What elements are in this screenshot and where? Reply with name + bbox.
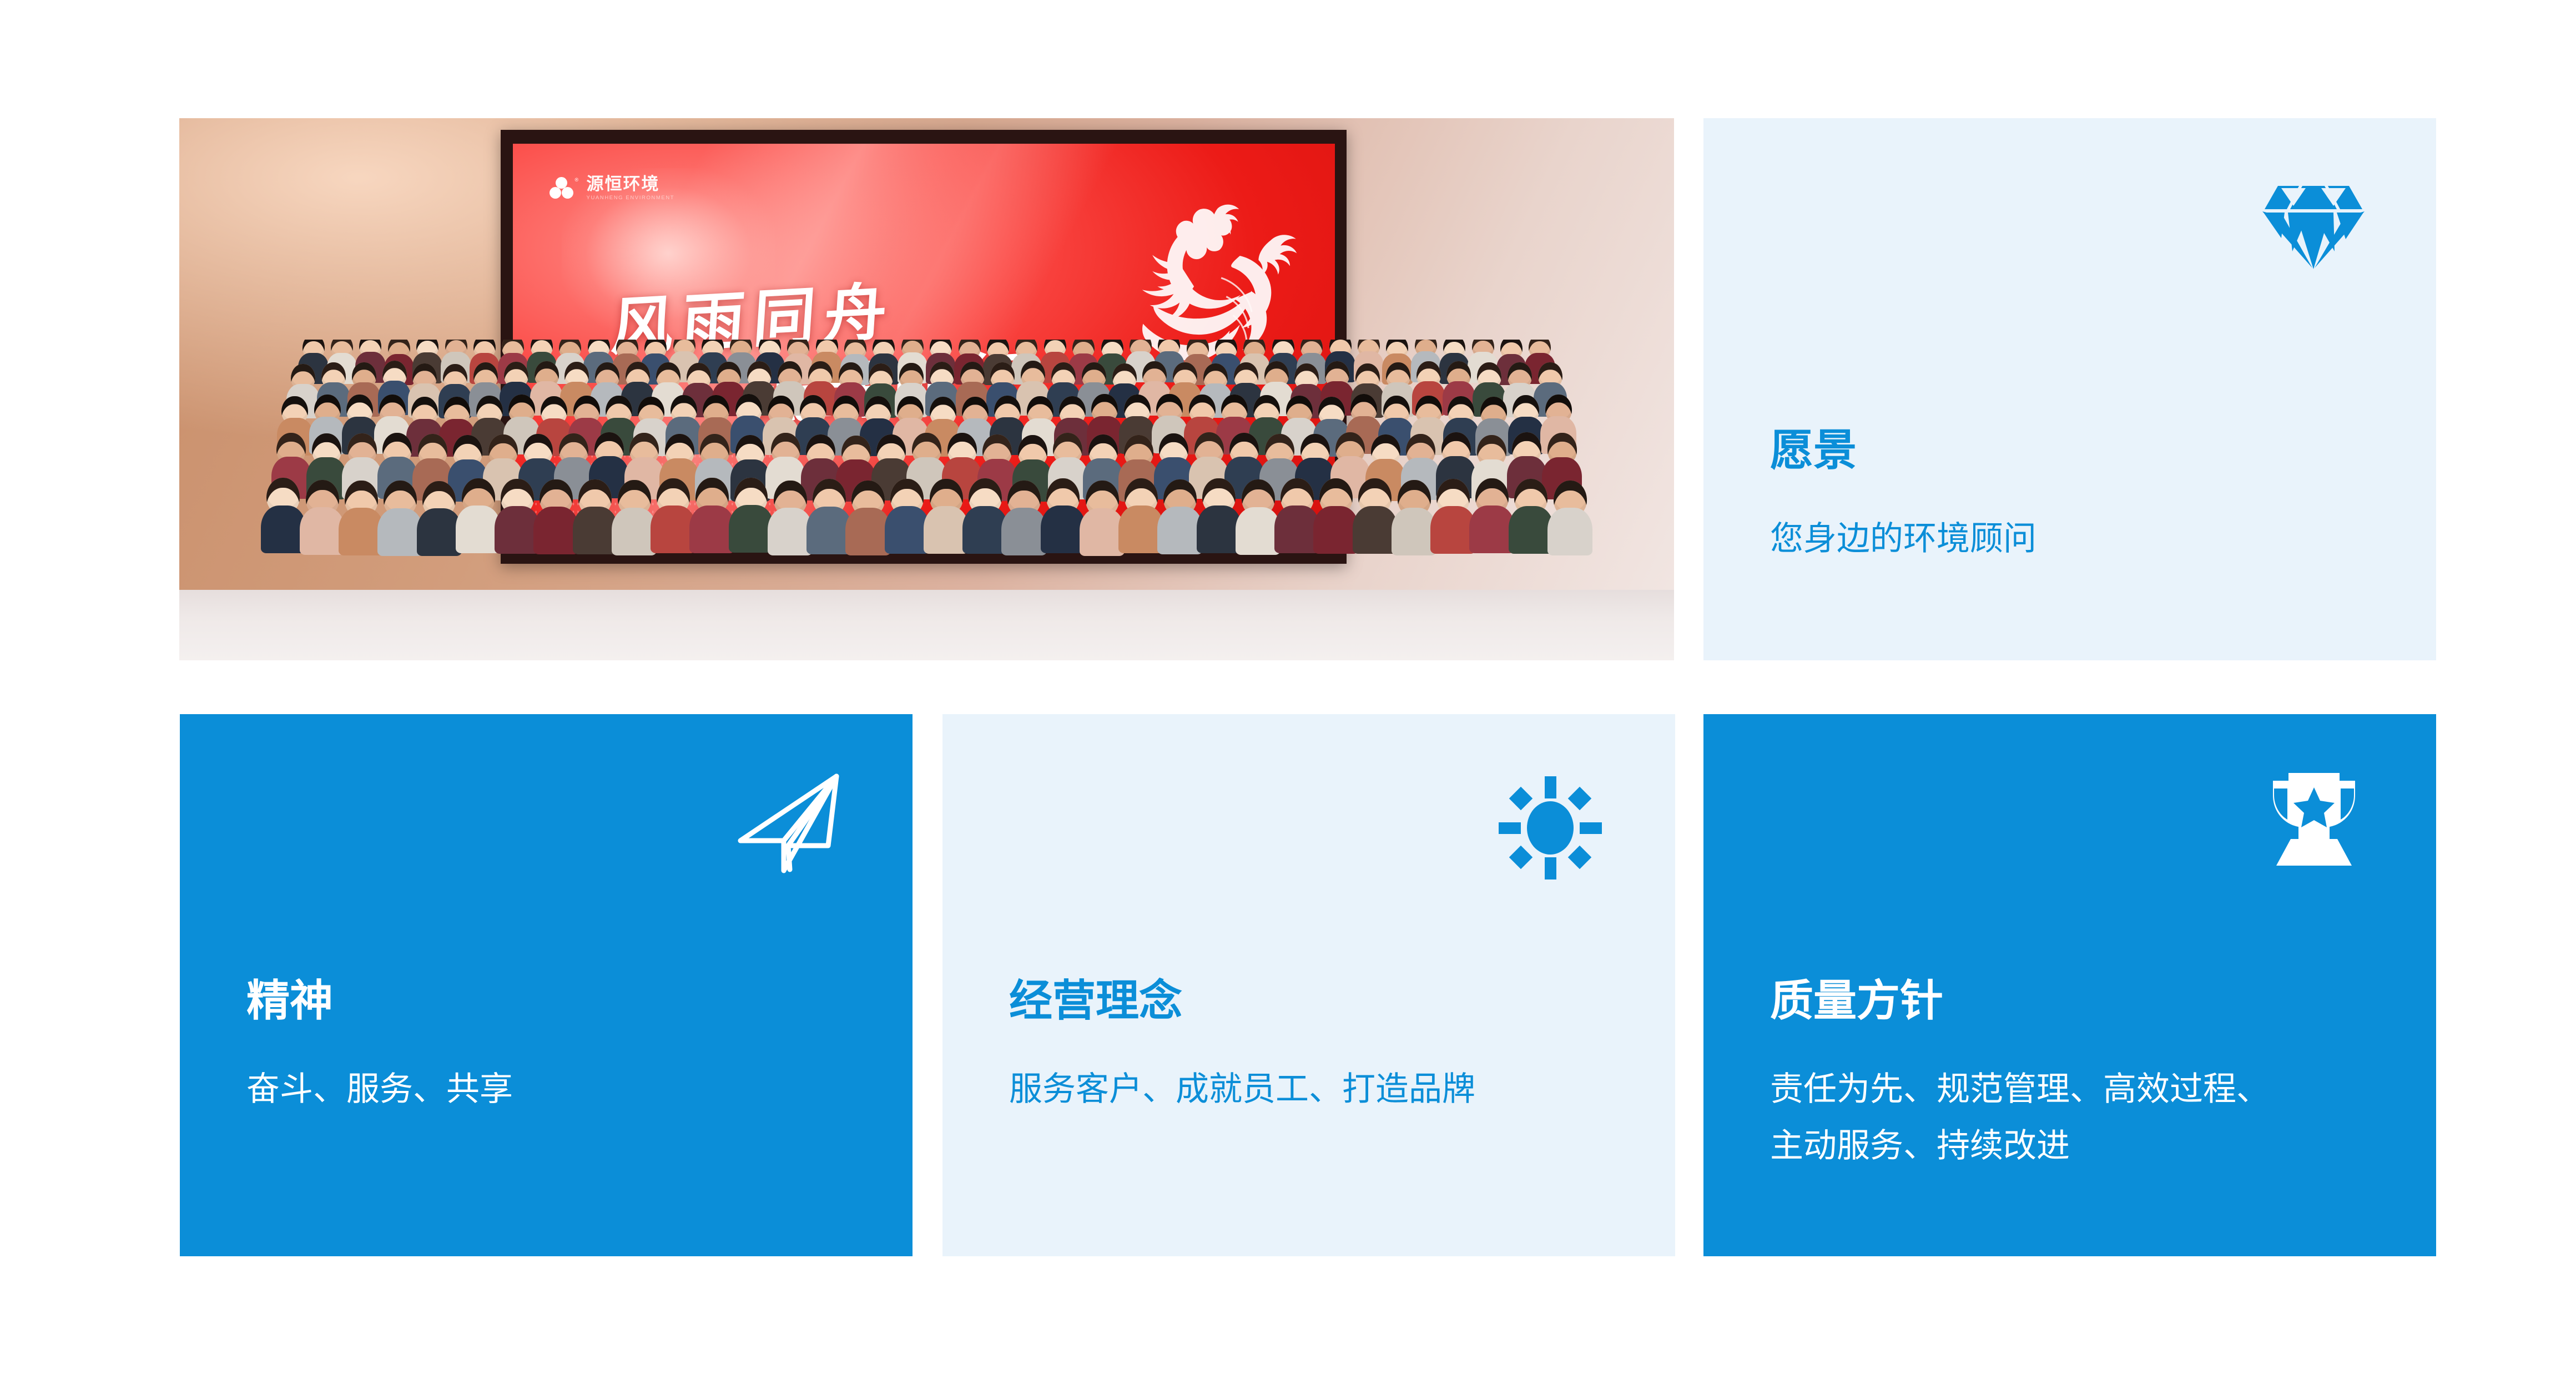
crowd-person <box>969 478 1002 559</box>
company-logo: ® 源恒环境 YUANHENG ENVIRONMENT <box>550 176 674 201</box>
logo-chinese-name: 源恒环境 <box>587 176 675 193</box>
crowd-person <box>618 480 651 561</box>
registered-mark: ® <box>575 177 579 183</box>
crowd-person <box>734 478 768 559</box>
crowd-person <box>1398 480 1431 561</box>
employee-crowd <box>179 340 1674 594</box>
crowd-person <box>1046 478 1080 559</box>
diamond-icon <box>2261 178 2366 271</box>
logo-mark-icon: ® <box>550 177 574 200</box>
crowd-person <box>462 478 495 559</box>
crowd-person <box>1475 478 1509 559</box>
trophy-icon <box>2264 770 2364 875</box>
card-vision-title: 愿景 <box>1770 429 1857 472</box>
card-quality-policy[interactable]: 质量方针 责任为先、规范管理、高效过程、 主动服务、持续改进 <box>1703 714 2436 1256</box>
crowd-person <box>1007 481 1041 562</box>
crowd-row <box>179 479 1674 562</box>
crowd-person <box>1436 479 1470 560</box>
card-vision-subtitle: 您身边的环境顾问 <box>1770 512 2036 566</box>
logo-english-name: YUANHENG ENVIRONMENT <box>587 195 675 201</box>
crowd-person <box>345 481 378 562</box>
crowd-person <box>1242 479 1275 560</box>
photo-floor <box>179 590 1674 660</box>
crowd-person <box>1514 479 1547 560</box>
crowd-person <box>540 479 573 560</box>
crowd-person <box>422 481 456 562</box>
card-quality-policy-subtitle-line1: 责任为先、规范管理、高效过程、 <box>1770 1063 2270 1116</box>
crowd-person <box>578 479 612 560</box>
sun-icon <box>1498 775 1603 881</box>
crowd-person <box>501 479 534 560</box>
crowd-person <box>1281 478 1314 559</box>
card-business-philosophy-subtitle: 服务客户、成就员工、打造品牌 <box>1009 1063 1475 1116</box>
crowd-person <box>1086 481 1119 562</box>
page-root: ® 源恒环境 YUANHENG ENVIRONMENT 风雨同舟 砥砺前行 <box>0 0 2576 1380</box>
crowd-person <box>1358 478 1392 559</box>
card-vision[interactable]: 愿景 您身边的环境顾问 <box>1703 118 2436 660</box>
card-quality-policy-subtitle-line2: 主动服务、持续改进 <box>1770 1119 2070 1173</box>
crowd-person <box>851 481 885 562</box>
crowd-person <box>1554 481 1587 562</box>
crowd-person <box>1202 478 1236 559</box>
crowd-person <box>1125 478 1158 559</box>
crowd-person <box>384 481 417 562</box>
card-business-philosophy[interactable]: 经营理念 服务客户、成就员工、打造品牌 <box>942 714 1675 1256</box>
crowd-person <box>266 478 300 559</box>
company-group-photo: ® 源恒环境 YUANHENG ENVIRONMENT 风雨同舟 砥砺前行 <box>179 118 1674 660</box>
card-spirit-title: 精神 <box>246 979 333 1023</box>
crowd-person <box>890 479 924 560</box>
card-spirit-subtitle: 奋斗、服务、共享 <box>246 1063 513 1116</box>
crowd-person <box>1163 479 1197 560</box>
paper-plane-icon <box>735 770 846 875</box>
crowd-person <box>813 479 846 560</box>
crowd-person <box>930 479 963 560</box>
crowd-person <box>695 478 729 559</box>
card-business-philosophy-title: 经营理念 <box>1009 979 1182 1023</box>
crowd-person <box>774 481 807 562</box>
card-spirit[interactable]: 精神 奋斗、服务、共享 <box>180 714 913 1256</box>
crowd-person <box>657 478 690 559</box>
crowd-person <box>306 480 339 561</box>
crowd-person <box>1319 478 1353 559</box>
card-quality-policy-title: 质量方针 <box>1770 979 1943 1023</box>
